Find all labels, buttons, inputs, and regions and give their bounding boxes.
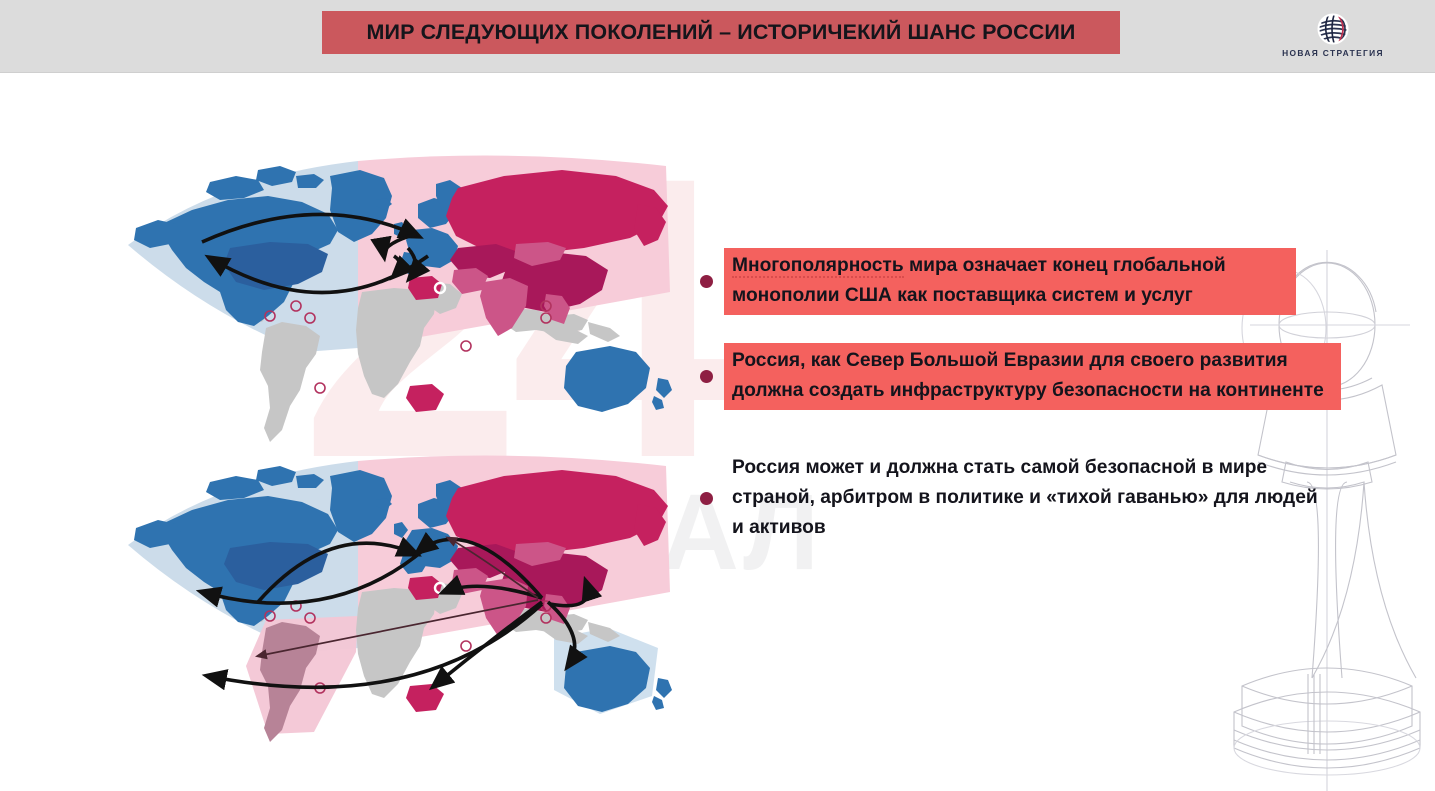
bullet-item-1: Многополярность мира означает конец глоб… <box>700 248 1400 315</box>
bullet-text-3: Россия может и должна стать самой безопа… <box>724 450 1341 547</box>
bullet-list: Многополярность мира означает конец глоб… <box>700 248 1400 569</box>
title-banner: МИР СЛЕДУЮЩИХ ПОКОЛЕНИЙ – ИСТОРИЧЕКИЙ ША… <box>322 11 1120 54</box>
world-map-future <box>118 452 688 752</box>
globe-logo-icon <box>1317 13 1349 45</box>
bullet-text-1-line2: монополии США как поставщика систем и ус… <box>732 285 1193 306</box>
brand-logo[interactable]: НОВАЯ СТРАТЕГИЯ <box>1258 4 1408 66</box>
slide: 24 КАНАЛ <box>0 0 1435 791</box>
bullet-text-2: Россия, как Север Большой Евразии для св… <box>724 343 1341 410</box>
world-map-current <box>118 152 688 452</box>
brand-logo-text: НОВАЯ СТРАТЕГИЯ <box>1282 48 1384 58</box>
spellcheck-word: Многополярность <box>732 255 904 278</box>
page-title: МИР СЛЕДУЮЩИХ ПОКОЛЕНИЙ – ИСТОРИЧЕКИЙ ША… <box>367 20 1076 45</box>
bullet-text-1: Многополярность мира означает конец глоб… <box>724 248 1296 315</box>
bullet-item-3: Россия может и должна стать самой безопа… <box>700 450 1400 547</box>
bullet-dot <box>700 492 713 505</box>
slide-header: МИР СЛЕДУЮЩИХ ПОКОЛЕНИЙ – ИСТОРИЧЕКИЙ ША… <box>0 0 1435 73</box>
bullet-dot <box>700 370 713 383</box>
bullet-item-2: Россия, как Север Большой Евразии для св… <box>700 343 1400 410</box>
bullet-dot <box>700 275 713 288</box>
bullet-text-1-rest: мира означает конец глобальной <box>904 255 1226 276</box>
